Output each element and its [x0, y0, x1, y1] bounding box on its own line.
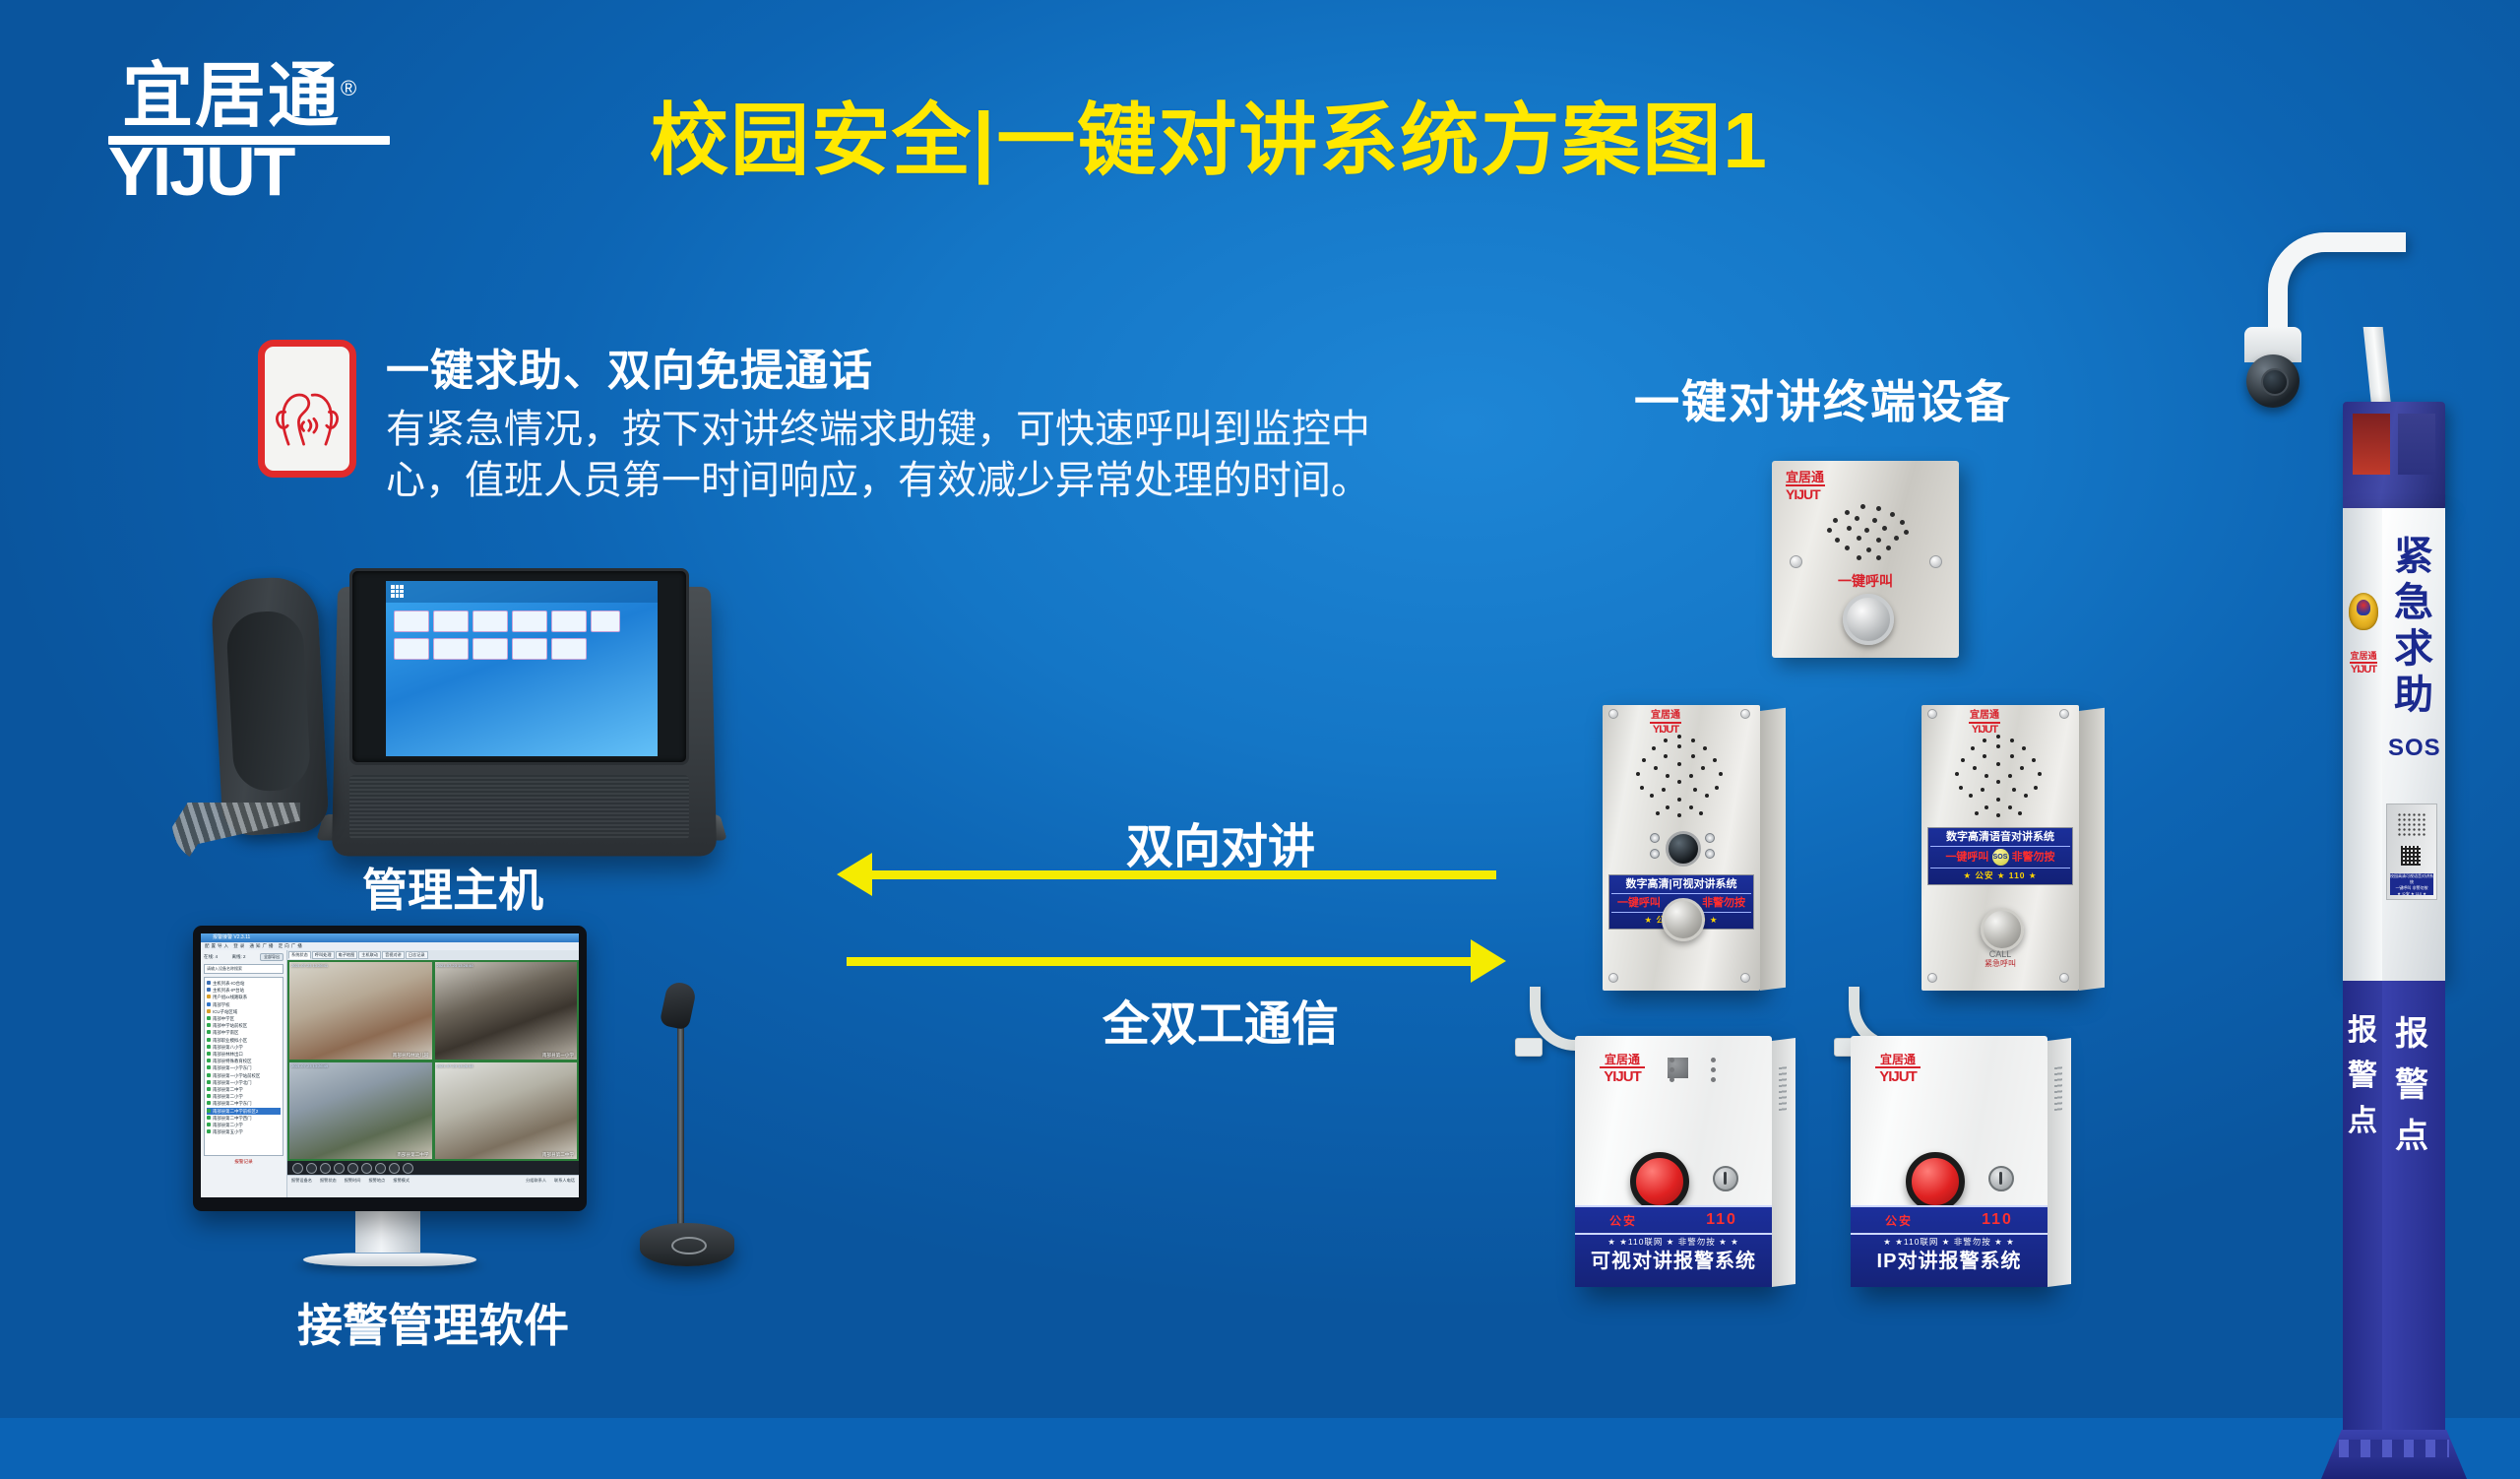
pole-intercom-panel[interactable]: 校园高清可视语音对讲系统 一键呼叫 非警勿按 ★ 公安 ★ 110 ★	[2386, 804, 2437, 900]
microphone-holes-icon	[1668, 1058, 1721, 1087]
emergency-help-pole: 宜居通 YIJUT 紧急求助SOS 校园高清可视语音对讲系统 一键呼叫 非警勿按…	[2227, 232, 2463, 1375]
emergency-alarm-button[interactable]	[1906, 1152, 1965, 1211]
playback-toolbar	[287, 1161, 579, 1175]
fullscreen-icon[interactable]	[347, 1163, 358, 1174]
col-device-name: 报警设备名	[291, 1178, 312, 1195]
phone-app-tile[interactable]	[512, 611, 547, 632]
band-row-police: 公安 110	[1851, 1207, 2047, 1233]
col-contact: 分组联系人	[526, 1178, 546, 1195]
tree-node[interactable]: 南部县特殊教育校区	[207, 1058, 281, 1064]
phone-handset[interactable]	[210, 575, 329, 836]
col-status: 报警状态	[320, 1178, 337, 1195]
phone-app-tile[interactable]	[551, 638, 587, 660]
emergency-alarm-button[interactable]	[1630, 1152, 1689, 1211]
box-side	[2047, 1038, 2071, 1287]
vent-icon	[1779, 1066, 1787, 1111]
tree-node[interactable]: 南部县第一小学东门	[207, 1064, 281, 1071]
phone-app-tile[interactable]	[472, 611, 508, 632]
alarm-records-label: 报警记录	[204, 1159, 283, 1165]
sos-badge: SOS	[1992, 849, 2009, 866]
stop-icon[interactable]	[306, 1163, 317, 1174]
phone-screen-topbar	[386, 581, 658, 603]
alarm-beacon-lamp	[2343, 402, 2445, 510]
camera-cell[interactable]: 2021-07-23 13:26:46 南部县第一小学	[434, 961, 579, 1061]
call-button[interactable]	[1662, 898, 1705, 941]
arrow-left-line	[866, 870, 1496, 879]
arrow-left-head-icon	[837, 853, 872, 896]
phone-screen-frame	[349, 568, 689, 765]
alarm-software-monitor: 报警接警 V2.3.11 配置导入 登录 通知广播 定向广播 在线: 4 离线:…	[193, 926, 616, 1300]
record-icon[interactable]	[292, 1163, 303, 1174]
gooseneck-microphone	[620, 965, 748, 1300]
two-people-talking-icon	[258, 340, 356, 478]
poster-canvas: 宜居通® YIJUT 校园安全|一键对讲系统方案图1 一键求助、双向免提通话 有…	[0, 0, 2520, 1418]
microphone-icon[interactable]	[375, 1163, 386, 1174]
screw-icon	[1927, 973, 1937, 983]
phone-app-tile[interactable]	[551, 611, 587, 632]
terminal-brand-logo: 宜居通 YIJUT	[1786, 471, 1825, 501]
tree-node[interactable]: 南部县第二小学	[207, 1093, 281, 1100]
emergency-number: 110	[1982, 1211, 2013, 1229]
audio-intercom-terminal: 宜居通 YIJUT 数字高清语音对讲系统 一键呼叫 SOS 非警勿按 ★ 公安	[1921, 705, 2079, 991]
screw-icon	[1608, 973, 1618, 983]
registered-mark: ®	[341, 76, 358, 100]
camera-name: 南部县和林幼儿园	[393, 1053, 429, 1059]
camera-timestamp: 2021-07-23 13:26:49	[291, 1063, 328, 1068]
export-all-button[interactable]: 全部导出	[260, 953, 283, 961]
info-panel: 数字高清语音对讲系统 一键呼叫 SOS 非警勿按 ★ 公安 ★ 110 ★	[1927, 827, 2073, 885]
tab-log[interactable]: 日志记录	[406, 951, 428, 959]
camera-cell[interactable]: 2021-07-23 13:26:49 南部县第二中学	[288, 1061, 433, 1161]
phone-speaker-grille	[349, 775, 689, 840]
panel-line-1: 数字高清语音对讲系统	[1930, 831, 2070, 844]
tree-node[interactable]: 南部县第一小学北门	[207, 1079, 281, 1086]
tab-call-handling[interactable]: 呼叫处理	[312, 951, 335, 959]
camera-name: 南部县第二中学	[397, 1152, 428, 1158]
emergency-number: 110	[1706, 1211, 1737, 1229]
tree-node[interactable]: 南部县林林出口	[207, 1051, 281, 1058]
tree-node[interactable]: 主机列表-IO台站	[207, 980, 281, 987]
screw-icon	[1740, 973, 1750, 983]
vent-icon	[2054, 1066, 2062, 1111]
tree-node[interactable]: 南部学校	[207, 1001, 281, 1008]
ip-intercom-alarm-box: 宜居通 YIJUT 公安 110 ★ ★110联网 ★ 非警勿按 ★ ★ IP对…	[1851, 1036, 2047, 1287]
pole-side-text-a: 报警点	[2347, 1008, 2378, 1144]
speaker-dots-icon	[1945, 735, 2055, 821]
software-tabs: 系统状态 呼叫处理 电子地图 主机联动 音视对讲 日志记录	[287, 950, 579, 960]
brand-logo: 宜居通® YIJUT	[108, 51, 404, 184]
software-caption: 接警管理软件	[207, 1290, 660, 1355]
apps-grid-icon	[391, 585, 404, 598]
ir-led-icon	[1705, 849, 1715, 859]
screw-icon	[2059, 709, 2069, 719]
tree-node[interactable]: 南部县第一小学站前校区	[207, 1072, 281, 1079]
terminal-brand-logo: 宜居通 YIJUT	[1969, 711, 2000, 736]
col-phone: 联系人电话	[554, 1178, 575, 1195]
call-button-label-en: CALL	[1921, 949, 2079, 959]
tree-node[interactable]: 南部县第二小学	[207, 1122, 281, 1128]
panel-line-2: 一键呼叫 SOS 非警勿按	[1930, 849, 2070, 866]
tree-node[interactable]: 南部县第二中学	[207, 1086, 281, 1093]
management-host-phone	[172, 556, 724, 871]
device-tree[interactable]: 主机列表-IO台站 主机列表-IP台站 用户组xx线路联系 南部学校 ICU子站…	[204, 977, 283, 1156]
box-label-band: 公安 110 ★ ★110联网 ★ 非警勿按 ★ ★ IP对讲报警系统	[1851, 1205, 2047, 1287]
camera-cell[interactable]: 2021-07-23 13:26:41 南部县和林幼儿园	[288, 961, 433, 1061]
monitor-screen: 报警接警 V2.3.11 配置导入 登录 通知广播 定向广播 在线: 4 离线:…	[201, 933, 579, 1197]
terminal-side	[1760, 708, 1786, 991]
phone-app-tile[interactable]	[472, 638, 508, 660]
tab-e-map[interactable]: 电子地图	[336, 951, 358, 959]
phone-app-tile[interactable]	[433, 638, 469, 660]
arrow-right-line	[847, 957, 1477, 966]
pole-panel-label: 校园高清可视语音对讲系统 一键呼叫 非警勿按 ★ 公安 ★ 110 ★	[2390, 873, 2433, 895]
screw-icon	[1608, 709, 1618, 719]
feature-body: 有紧急情况，按下对讲终端求助键，可快速呼叫到监控中心，值班人员第一时间响应，有效…	[386, 404, 1370, 506]
screw-icon	[1929, 555, 1942, 568]
pole-base-plate	[2321, 1430, 2467, 1479]
col-place: 报警地点	[368, 1178, 385, 1195]
speaker-dots-icon	[2397, 812, 2426, 838]
camera-name: 南部县第一小学	[542, 1053, 574, 1059]
tree-node[interactable]: 南部中学站前校区	[207, 1022, 281, 1029]
panel-line-3: ★ 公安 ★ 110 ★	[2390, 891, 2433, 897]
arrow-left-label: 双向对讲	[1063, 807, 1378, 876]
screw-icon	[1790, 555, 1802, 568]
software-main-pane: 系统状态 呼叫处理 电子地图 主机联动 音视对讲 日志记录 2021-07-23…	[287, 950, 579, 1197]
offline-count: 离线: 2	[232, 954, 246, 960]
split-layout-icon[interactable]	[334, 1163, 345, 1174]
pole-body-blue: 报警点 报警点	[2343, 981, 2445, 1444]
pole-body-white: 宜居通 YIJUT 紧急求助SOS 校园高清可视语音对讲系统 一键呼叫 非警勿按…	[2343, 508, 2445, 981]
col-time: 报警时间	[345, 1178, 361, 1195]
police-label: 公安	[1609, 1212, 1637, 1229]
mic-capsule	[660, 980, 698, 1030]
software-status-row: 在线: 4 离线: 2 全部导出	[204, 953, 283, 961]
pole-main-text: 紧急求助SOS	[2388, 534, 2439, 771]
tree-node[interactable]: 南部职业模拟小区	[207, 1037, 281, 1044]
box-brand-logo: 宜居通 YIJUT	[1591, 1054, 1654, 1084]
arrow-right-head-icon	[1471, 939, 1506, 983]
camera-lens-icon	[1666, 831, 1701, 867]
tab-host-linkage[interactable]: 主机联动	[358, 951, 381, 959]
page-title: 校园安全|一键对讲系统方案图1	[650, 77, 1910, 191]
tree-node-selected[interactable]: 南部县第二中学前校区2	[207, 1108, 281, 1115]
software-sidebar: 在线: 4 离线: 2 全部导出 请输入设备名称搜索 主机列表-IO台站 主机列…	[201, 950, 287, 1197]
tree-node[interactable]: 南部县第五小学	[207, 1128, 281, 1135]
phone-app-tile[interactable]	[433, 611, 469, 632]
software-title-bar: 报警接警 V2.3.11	[201, 933, 579, 942]
band-row-police: 公安 110	[1575, 1207, 1772, 1233]
screw-icon	[1927, 709, 1937, 719]
software-body: 在线: 4 离线: 2 全部导出 请输入设备名称搜索 主机列表-IO台站 主机列…	[201, 950, 579, 1197]
tree-node[interactable]: 主机列表-IP台站	[207, 987, 281, 994]
refresh-icon[interactable]	[361, 1163, 372, 1174]
box-brand-logo: 宜居通 YIJUT	[1866, 1054, 1929, 1084]
camera-cell[interactable]: 2021-07-23 13:26:44 南部县第二中学	[434, 1061, 579, 1161]
phone-app-tile[interactable]	[512, 638, 547, 660]
band-title: IP对讲报警系统	[1851, 1249, 2047, 1274]
police-emblem-icon	[2349, 593, 2378, 630]
monitor-bezel: 报警接警 V2.3.11 配置导入 登录 通知广播 定向广播 在线: 4 离线:…	[193, 926, 587, 1211]
screw-icon	[2059, 973, 2069, 983]
band-subtitle: ★ ★110联网 ★ 非警勿按 ★ ★	[1851, 1235, 2047, 1249]
feature-text-block: 一键求助、双向免提通话 有紧急情况，按下对讲终端求助键，可快速呼叫到监控中心，值…	[386, 335, 1370, 506]
phone-app-tile[interactable]	[394, 638, 429, 660]
mute-icon[interactable]	[389, 1163, 400, 1174]
tree-node[interactable]: 南部县第二中学东门	[207, 1100, 281, 1107]
camera-grid: 2021-07-23 13:26:41 南部县和林幼儿园 2021-07-23 …	[287, 960, 579, 1161]
box-label-band: 公安 110 ★ ★110联网 ★ 非警勿按 ★ ★ 可视对讲报警系统	[1575, 1205, 1772, 1287]
feature-title: 一键求助、双向免提通话	[386, 335, 1370, 398]
camera-name: 南部县第二中学	[542, 1152, 574, 1158]
camera-timestamp: 2021-07-23 13:26:44	[437, 1063, 473, 1068]
snapshot-icon[interactable]	[320, 1163, 331, 1174]
ir-led-icon	[1650, 849, 1660, 859]
brand-logo-cn: 宜居通®	[108, 51, 404, 134]
panel-line-1: 校园高清可视语音对讲系统	[2390, 873, 2433, 885]
speaker-dots-icon	[1626, 735, 1736, 821]
camera-timestamp: 2021-07-23 13:26:41	[291, 963, 328, 968]
arrow-right-label: 全双工通信	[1053, 985, 1388, 1054]
emergency-call-button[interactable]	[1981, 908, 2024, 951]
panel-line-3: ★ 公安 ★ 110 ★	[1930, 870, 2070, 881]
terminal-side	[2079, 708, 2105, 991]
brand-logo-en: YIJUT	[108, 141, 404, 202]
management-host-caption: 管理主机	[246, 855, 660, 920]
speaker-dots-icon	[1821, 504, 1912, 563]
call-button[interactable]	[1843, 594, 1894, 645]
online-count: 在线: 4	[204, 954, 218, 960]
pole-side-text-b: 报警点	[2390, 1008, 2433, 1162]
monitor-foot	[300, 1253, 478, 1266]
pole-left-face	[2343, 508, 2382, 981]
key-lock-icon[interactable]	[1988, 1166, 2014, 1191]
device-search-input[interactable]: 请输入设备名称搜索	[204, 964, 283, 974]
panel-line-1: 数字高清|可视对讲系统	[1611, 878, 1751, 891]
box-side	[1772, 1038, 1795, 1287]
terminal-brand-logo: 宜居通 YIJUT	[1650, 711, 1681, 736]
col-mode: 报警模式	[393, 1178, 409, 1195]
phone-app-tile[interactable]	[591, 611, 620, 632]
band-title: 可视对讲报警系统	[1575, 1249, 1772, 1274]
key-lock-icon[interactable]	[1713, 1166, 1738, 1191]
tree-node[interactable]: 南部县第八小学	[207, 1044, 281, 1051]
ptz-camera-icon	[2246, 354, 2299, 408]
mic-base[interactable]	[640, 1223, 734, 1266]
qr-code-icon	[2401, 846, 2421, 866]
phone-app-tile[interactable]	[394, 611, 429, 632]
ir-led-icon	[1650, 833, 1660, 843]
phone-screen	[386, 581, 658, 756]
one-key-call-label: 一键呼叫	[1772, 571, 1959, 591]
camera-timestamp: 2021-07-23 13:26:46	[437, 963, 473, 968]
tab-av-intercom[interactable]: 音视对讲	[382, 951, 405, 959]
ir-led-icon	[1705, 833, 1715, 843]
video-intercom-terminal: 宜居通 YIJUT 数字高清|可视对讲系统 一键呼叫 非警勿按	[1603, 705, 1760, 991]
screw-icon	[1740, 709, 1750, 719]
police-label: 公安	[1885, 1212, 1913, 1229]
band-subtitle: ★ ★110联网 ★ 非警勿按 ★ ★	[1575, 1235, 1772, 1249]
tab-system-status[interactable]: 系统状态	[288, 951, 311, 959]
tree-node[interactable]: ICU子站区域	[207, 1008, 281, 1015]
monitor-neck	[355, 1209, 420, 1253]
tree-node[interactable]: 南部中学区	[207, 1015, 281, 1022]
tree-node[interactable]: 南部中学南区	[207, 1029, 281, 1036]
tree-node[interactable]: 用户组xx线路联系	[207, 994, 281, 1000]
video-intercom-alarm-box: 宜居通 YIJUT 公安 110 ★ ★110联网 ★ 非警勿按 ★ ★ 可视对…	[1575, 1036, 1772, 1287]
alarm-table-header: 报警设备名 报警状态 报警时间 报警地点 报警模式 分组联系人 联系人电话	[287, 1175, 579, 1197]
call-button-label-cn: 紧急呼叫	[1921, 959, 2079, 969]
pole-brand-logo: 宜居通 YIJUT	[2345, 652, 2382, 675]
tree-node[interactable]: 南部县第二中学西门	[207, 1115, 281, 1122]
terminal-section-heading: 一键对讲终端设备	[1634, 366, 2012, 431]
mic-neck	[677, 1004, 684, 1231]
hangup-icon[interactable]	[403, 1163, 413, 1174]
small-intercom-terminal: 宜居通 YIJUT 一键呼叫	[1772, 461, 1959, 658]
